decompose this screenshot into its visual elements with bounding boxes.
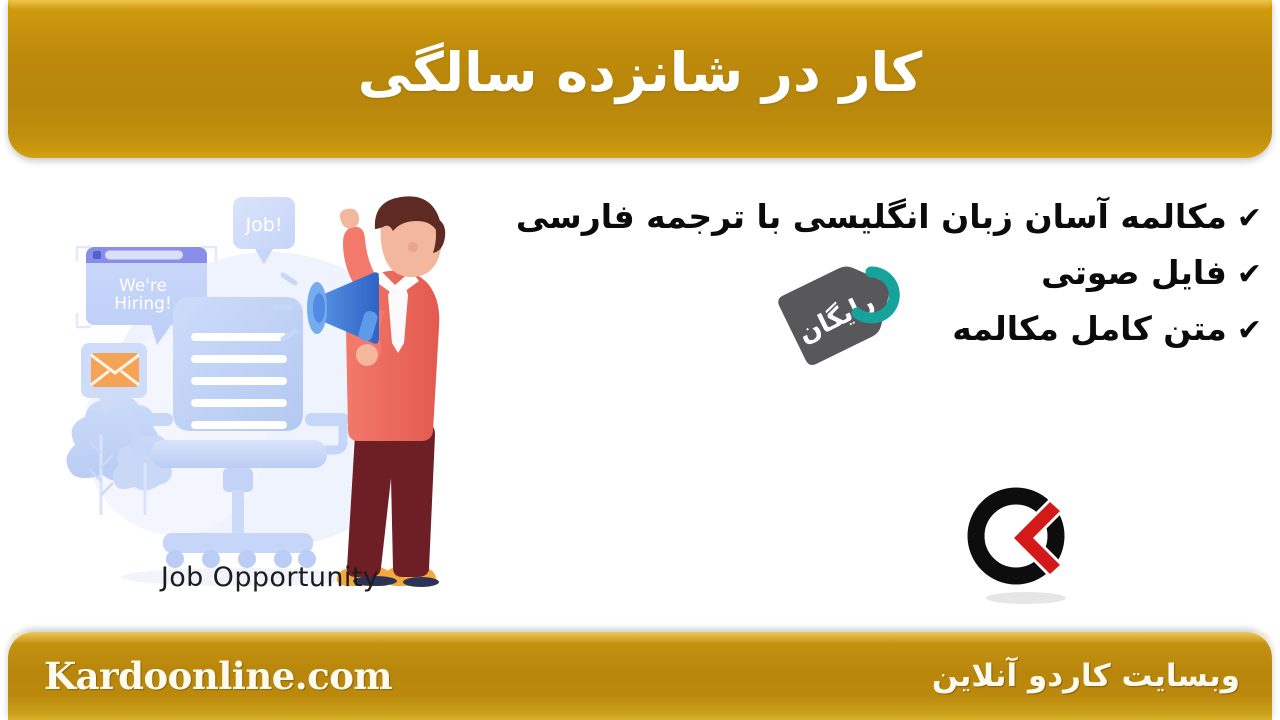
feature-label: مکالمه آسان زبان انگلیسی با ترجمه فارسی: [516, 196, 1227, 238]
feature-label: متن کامل مکالمه: [952, 308, 1227, 350]
footer-site-name: وبسایت کاردو آنلاین: [932, 658, 1240, 694]
kardoonline-logo: [958, 478, 1088, 608]
list-item: ✔ مکالمه آسان زبان انگلیسی با ترجمه فارس…: [382, 196, 1262, 238]
hiring-card-line2: Hiring!: [114, 294, 172, 314]
footer-banner: Kardoonline.com وبسایت کاردو آنلاین: [8, 632, 1272, 720]
hiring-card-line1: We're: [119, 276, 167, 296]
check-icon: ✔: [1237, 204, 1262, 234]
list-item: ✔ متن کامل مکالمه: [382, 308, 1262, 350]
feature-label: فایل صوتی: [1041, 252, 1227, 294]
illustration-caption: Job Opportunity: [55, 562, 485, 593]
feature-list: ✔ مکالمه آسان زبان انگلیسی با ترجمه فارس…: [382, 196, 1262, 365]
check-icon: ✔: [1237, 316, 1262, 346]
header-banner: کار در شانزده سالگی: [8, 0, 1272, 158]
footer-domain[interactable]: Kardoonline.com: [44, 654, 392, 698]
job-bubble-label: Job!: [245, 214, 283, 236]
check-icon: ✔: [1237, 260, 1262, 290]
poster-canvas: کار در شانزده سالگی: [0, 0, 1280, 720]
page-title: کار در شانزده سالگی: [358, 41, 923, 118]
list-item: ✔ فایل صوتی: [382, 252, 1262, 294]
